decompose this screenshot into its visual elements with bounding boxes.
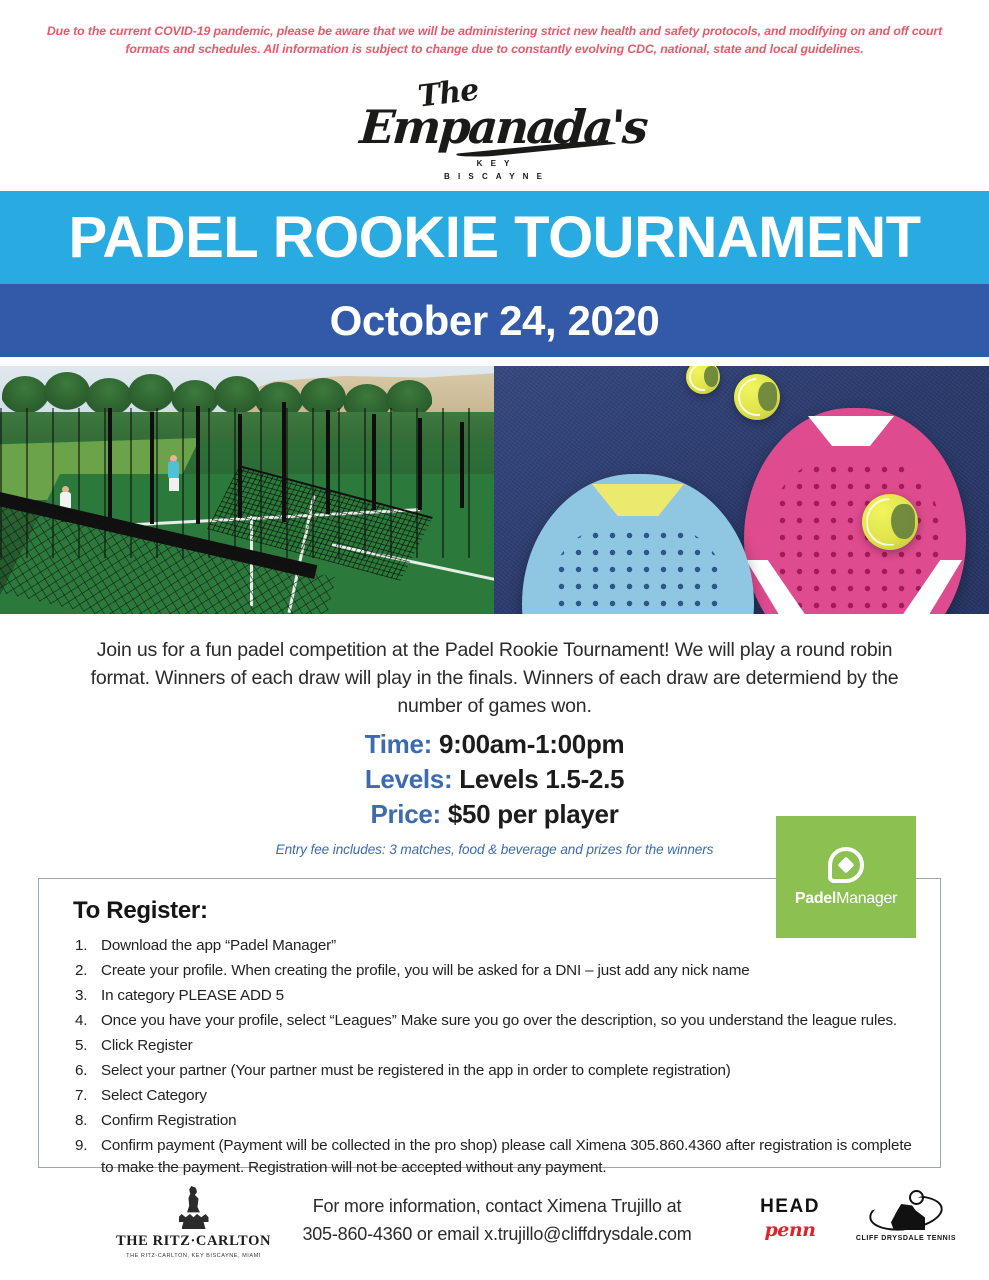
list-item-number: 3.	[67, 985, 101, 1007]
list-item: 2. Create your profile. When creating th…	[67, 960, 927, 982]
list-item-text: Select Category	[101, 1085, 927, 1107]
list-item: 4. Once you have your profile, select “L…	[67, 1010, 927, 1032]
list-item-text: Confirm payment (Payment will be collect…	[101, 1135, 927, 1179]
tennis-ball	[862, 494, 918, 550]
page-title: PADEL ROOKIE TOURNAMENT	[68, 209, 920, 267]
ritz-carlton-property: THE RITZ-CARLTON, KEY BISCAYNE, MIAMI	[86, 1253, 301, 1259]
list-item-text: Once you have your profile, select “Leag…	[101, 1010, 927, 1032]
logo-script: The Empanada's	[360, 78, 630, 156]
detail-levels-value: Levels 1.5-2.5	[459, 764, 624, 794]
penn-wordmark: penn	[742, 1219, 838, 1241]
list-item: 7. Select Category	[67, 1085, 927, 1107]
contact-info: For more information, contact Ximena Tru…	[262, 1192, 732, 1248]
title-band: PADEL ROOKIE TOURNAMENT	[0, 191, 989, 284]
list-item-number: 9.	[67, 1135, 101, 1179]
padel-manager-pin-icon	[828, 847, 864, 883]
footer: THE RITZ·CARLTON THE RITZ-CARLTON, KEY B…	[0, 1178, 989, 1280]
list-item-text: Confirm Registration	[101, 1110, 927, 1132]
list-item-number: 7.	[67, 1085, 101, 1107]
list-item-text: Click Register	[101, 1035, 927, 1057]
head-wordmark: HEAD	[742, 1196, 838, 1218]
list-item-number: 2.	[67, 960, 101, 982]
list-item: 1. Download the app “Padel Manager”	[67, 935, 927, 957]
covid-notice: Due to the current COVID-19 pandemic, pl…	[40, 22, 949, 58]
sponsor-logos: HEAD penn CLIFF DRYSDALE TENNIS	[742, 1190, 962, 1256]
list-item-number: 4.	[67, 1010, 101, 1032]
list-item-number: 1.	[67, 935, 101, 957]
detail-levels: Levels: Levels 1.5-2.5	[0, 762, 989, 797]
ritz-lion-crest-icon	[176, 1186, 212, 1230]
logo-empanadas-text: Empanada's	[358, 100, 648, 154]
list-item-text: In category PLEASE ADD 5	[101, 985, 927, 1007]
event-description: Join us for a fun padel competition at t…	[88, 636, 901, 720]
cliff-drysdale-wordmark: CLIFF DRYSDALE TENNIS	[850, 1235, 962, 1242]
padel-manager-bold: Padel	[795, 890, 836, 907]
register-step-list: 1. Download the app “Padel Manager” 2. C…	[67, 935, 927, 1182]
list-item-text: Select your partner (Your partner must b…	[101, 1060, 927, 1082]
padel-manager-wordmark: PadelManager	[795, 890, 897, 908]
photo-padel-courts	[0, 366, 494, 614]
list-item-number: 5.	[67, 1035, 101, 1057]
flyer-page: Due to the current COVID-19 pandemic, pl…	[0, 0, 989, 1280]
list-item: 3. In category PLEASE ADD 5	[67, 985, 927, 1007]
photo-strip	[0, 366, 989, 614]
cliff-drysdale-player-icon	[869, 1190, 943, 1234]
padel-manager-logo: PadelManager	[776, 816, 916, 938]
list-item-number: 6.	[67, 1060, 101, 1082]
detail-price-label: Price:	[370, 799, 440, 829]
contact-line-1: For more information, contact Ximena Tru…	[262, 1192, 732, 1220]
detail-time-value: 9:00am-1:00pm	[439, 729, 624, 759]
register-title: To Register:	[73, 897, 208, 925]
detail-price-value: $50 per player	[448, 799, 619, 829]
event-date: October 24, 2020	[330, 300, 660, 342]
list-item-text: Create your profile. When creating the p…	[101, 960, 927, 982]
list-item: 8. Confirm Registration	[67, 1110, 927, 1132]
detail-time-label: Time:	[365, 729, 432, 759]
cliff-drysdale-logo: CLIFF DRYSDALE TENNIS	[850, 1190, 962, 1242]
logo-location-line1: K E Y	[477, 158, 513, 169]
tennis-ball	[734, 374, 780, 420]
list-item-number: 8.	[67, 1110, 101, 1132]
logo-location-line2: B I S C A Y N E	[444, 171, 545, 182]
list-item-text: Download the app “Padel Manager”	[101, 935, 927, 957]
list-item: 5. Click Register	[67, 1035, 927, 1057]
padel-manager-light: Manager	[836, 890, 897, 907]
list-item: 6. Select your partner (Your partner mus…	[67, 1060, 927, 1082]
photo-padel-rackets	[494, 366, 989, 614]
empanadas-logo: The Empanada's K E Y B I S C A Y N E	[0, 78, 989, 183]
detail-levels-label: Levels:	[365, 764, 453, 794]
detail-time: Time: 9:00am-1:00pm	[0, 727, 989, 762]
head-penn-logo: HEAD penn	[742, 1196, 838, 1241]
list-item: 9. Confirm payment (Payment will be coll…	[67, 1135, 927, 1179]
date-band: October 24, 2020	[0, 284, 989, 357]
contact-line-2: 305-860-4360 or email x.trujillo@cliffdr…	[262, 1220, 732, 1248]
